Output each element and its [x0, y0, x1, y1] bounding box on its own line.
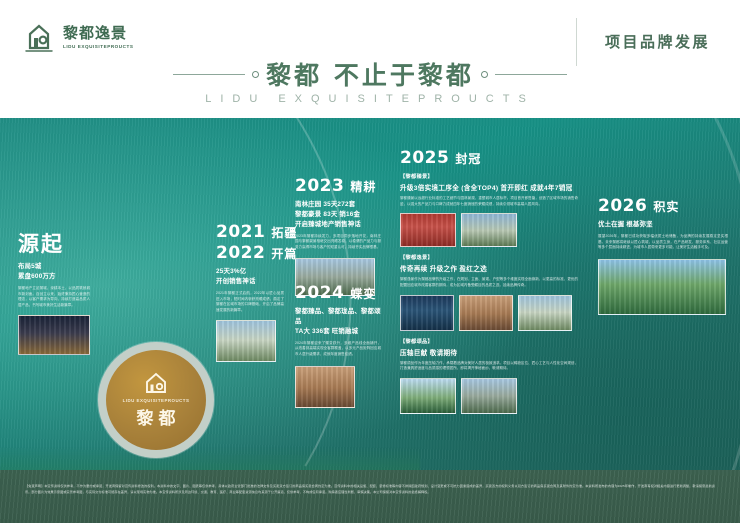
photo-overlay [462, 214, 516, 246]
origin-lead: 布局5城 累盘600万方 [18, 262, 90, 282]
y2021-body: 2021年黎都正式启航，2022年以匠心品质进入市场，短时间内斩获亮眼成绩，奠定… [216, 291, 284, 314]
y2025-sec2-tag: 【黎都逸景】 [400, 254, 578, 261]
year-2023-tag: 精耕 [350, 178, 376, 195]
header-section-label: 项目品牌发展 [605, 31, 710, 52]
milestone-2021-2022: 2021 拓疆 2022 开篇 25天3%亿 开创销售神话 2021年黎都正式启… [216, 222, 284, 362]
photo-overlay [401, 296, 453, 330]
year-2022-tag: 开篇 [271, 245, 297, 262]
y2025-sec2-lead: 传奇再续 升级之作 盈红之选 [400, 263, 578, 273]
y2024-photo [295, 366, 355, 408]
disclaimer-text: 【免责声明】本宣传资料仅供参考，不作为要约或承诺，开发商保留对宣传资料修改的权利… [25, 483, 715, 495]
year-2022: 2022 [216, 243, 265, 263]
year-2026-tag: 积实 [653, 198, 679, 215]
origin-body: 黎都地产立足黎城，深耕本土，以品质筑就城市新封面。自创立以来，始终秉持匠心营造的… [18, 286, 90, 309]
milestone-2025: 2025 封冠 【黎都臻景】 升级3倍实境工序全 (含全TOP4) 首开即红 成… [400, 148, 578, 414]
year-2026: 2026 [598, 196, 647, 216]
year-2026-line: 2026 积实 [598, 196, 728, 216]
y2025-sec2-photos [400, 295, 578, 331]
y2026-lead: 优土在握 根基弥坚 [598, 220, 728, 230]
house-logo-icon [22, 21, 56, 55]
photo-overlay [401, 214, 455, 246]
timeline-stage: LIDU EXQUISITEPROUCTS 黎都 源起 布局5城 累盘600万方… [0, 118, 740, 523]
milestone-2024: 2024 蝶变 黎都臻品、黎都珑品、黎都颂品 TA大 336套 旺销融城 202… [295, 283, 381, 408]
milestone-2026: 2026 积实 优土在握 根基弥坚 展望2026年，黎都已成功获取多幅优质土地储… [598, 196, 728, 315]
y2025-sec3-tag: 【黎都颂品】 [400, 338, 578, 345]
photo-overlay [217, 321, 275, 361]
year-2024-line: 2024 蝶变 [295, 283, 381, 303]
y2026-body: 展望2026年，黎都已成功获取多幅优质土地储备，为品牌的持续发展奠定坚实根基。未… [598, 234, 728, 251]
milestone-origin: 源起 布局5城 累盘600万方 黎都地产立足黎城，深耕本土，以品质筑就城市新封面… [18, 228, 90, 355]
y2025-photo-res [518, 295, 572, 331]
brand-medallion: LIDU EXQUISITEPROUCTS 黎都 [98, 342, 214, 458]
year-2022-line: 2022 开篇 [216, 243, 284, 263]
year-2024: 2024 [295, 283, 344, 303]
brand-medallion-inner: LIDU EXQUISITEPROUCTS 黎都 [106, 350, 206, 450]
year-2021: 2021 [216, 222, 265, 242]
year-2021-tag: 拓疆 [271, 224, 297, 241]
year-2024-tag: 蝶变 [350, 285, 376, 302]
y2021-photo [216, 320, 276, 362]
year-2025: 2025 [400, 148, 449, 168]
medallion-en: LIDU EXQUISITEPROUCTS [123, 398, 190, 403]
milestone-2023: 2023 精耕 南林庄园 35天272套 黎都豪景 83天 销16金 开启臻城地… [295, 176, 381, 296]
year-2023-line: 2023 精耕 [295, 176, 381, 196]
y2021-lead: 25天3%亿 开创销售神话 [216, 267, 284, 287]
origin-title: 源起 [18, 228, 90, 258]
y2025-sec1-photos [400, 213, 578, 247]
y2025-sec3-body: 黎都颂品作为年度压轴力作，承载着品牌对美好人居的极致追求。项目以稀缺区位、匠心工… [400, 361, 578, 372]
photo-overlay [599, 260, 725, 314]
y2025-sec1-body: 黎都臻景以远超行业标准的工艺细节与园林景观，重塑城市人居标杆。项目首开即售罄，创… [400, 196, 578, 207]
y2025-sec1-tag: 【黎都臻景】 [400, 173, 578, 180]
poster-footer: 【免责声明】本宣传资料仅供参考，不作为要约或承诺，开发商保留对宣传资料修改的权利… [0, 470, 740, 523]
y2024-lead: 黎都臻品、黎都珑品、黎都颂品 TA大 336套 旺销融城 [295, 307, 381, 337]
poster-header: 黎都逸景 LIDU EXQUISITEPROUCTS 项目品牌发展 黎都 不止于… [0, 0, 740, 118]
title-dot-left-icon [252, 71, 259, 78]
photo-overlay [519, 296, 571, 330]
y2023-body: 2023年黎都持续发力，多项目同步落地开花，南林庄园与黎都豪景相继交出亮眼答卷，… [295, 234, 381, 251]
y2025-sec3-lead: 压轴巨献 敬请期待 [400, 347, 578, 357]
y2025-photo-sky [400, 378, 456, 414]
year-2023: 2023 [295, 176, 344, 196]
main-title: 黎都 不止于黎都 [266, 56, 474, 92]
y2025-sec2-body: 黎都逸景作为黎都品牌的升级之作，在规划、立面、景观、户型等多个维度实现全面焕新，… [400, 277, 578, 288]
origin-photo [18, 315, 90, 355]
photo-overlay [19, 316, 89, 354]
photo-overlay [296, 367, 354, 407]
y2025-photo-city [400, 295, 454, 331]
brand-name-en: LIDU EXQUISITEPROUCTS [63, 44, 134, 50]
footer-texture [0, 470, 740, 523]
photo-overlay [401, 379, 455, 413]
medallion-cn: 黎都 [137, 404, 181, 429]
photo-overlay [460, 296, 512, 330]
year-2025-line: 2025 封冠 [400, 148, 578, 168]
y2025-sec3-photos [400, 378, 578, 414]
year-2025-tag: 封冠 [455, 150, 481, 167]
medallion-house-icon [141, 371, 171, 397]
brand-development-poster: 黎都逸景 LIDU EXQUISITEPROUCTS 项目品牌发展 黎都 不止于… [0, 0, 740, 523]
title-rule-left [173, 74, 245, 75]
y2025-photo-brick [459, 295, 513, 331]
y2024-body: 2024年黎都迎来了蝶变跃升，多维产品线全面铺开，从改善到高端实现全客群覆盖，以… [295, 341, 381, 358]
main-title-row: 黎都 不止于黎都 [0, 56, 740, 92]
brand-name-cn: 黎都逸景 [63, 25, 134, 42]
y2025-photo-tower [461, 213, 517, 247]
title-dot-right-icon [481, 71, 488, 78]
title-rule-right [495, 74, 567, 75]
y2023-lead: 南林庄园 35天272套 黎都豪景 83天 销16金 开启臻城地产销售神话 [295, 200, 381, 230]
y2025-photo-high [461, 378, 517, 414]
y2025-photo-event [400, 213, 456, 247]
photo-overlay [462, 379, 516, 413]
y2026-photo [598, 259, 726, 315]
brand-logo: 黎都逸景 LIDU EXQUISITEPROUCTS [22, 21, 134, 55]
sub-title: LIDU EXQUISITEPROUCTS [0, 93, 740, 105]
year-2021-line: 2021 拓疆 [216, 222, 284, 242]
y2025-sec1-lead: 升级3倍实境工序全 (含全TOP4) 首开即红 成就4年7销冠 [400, 182, 578, 192]
